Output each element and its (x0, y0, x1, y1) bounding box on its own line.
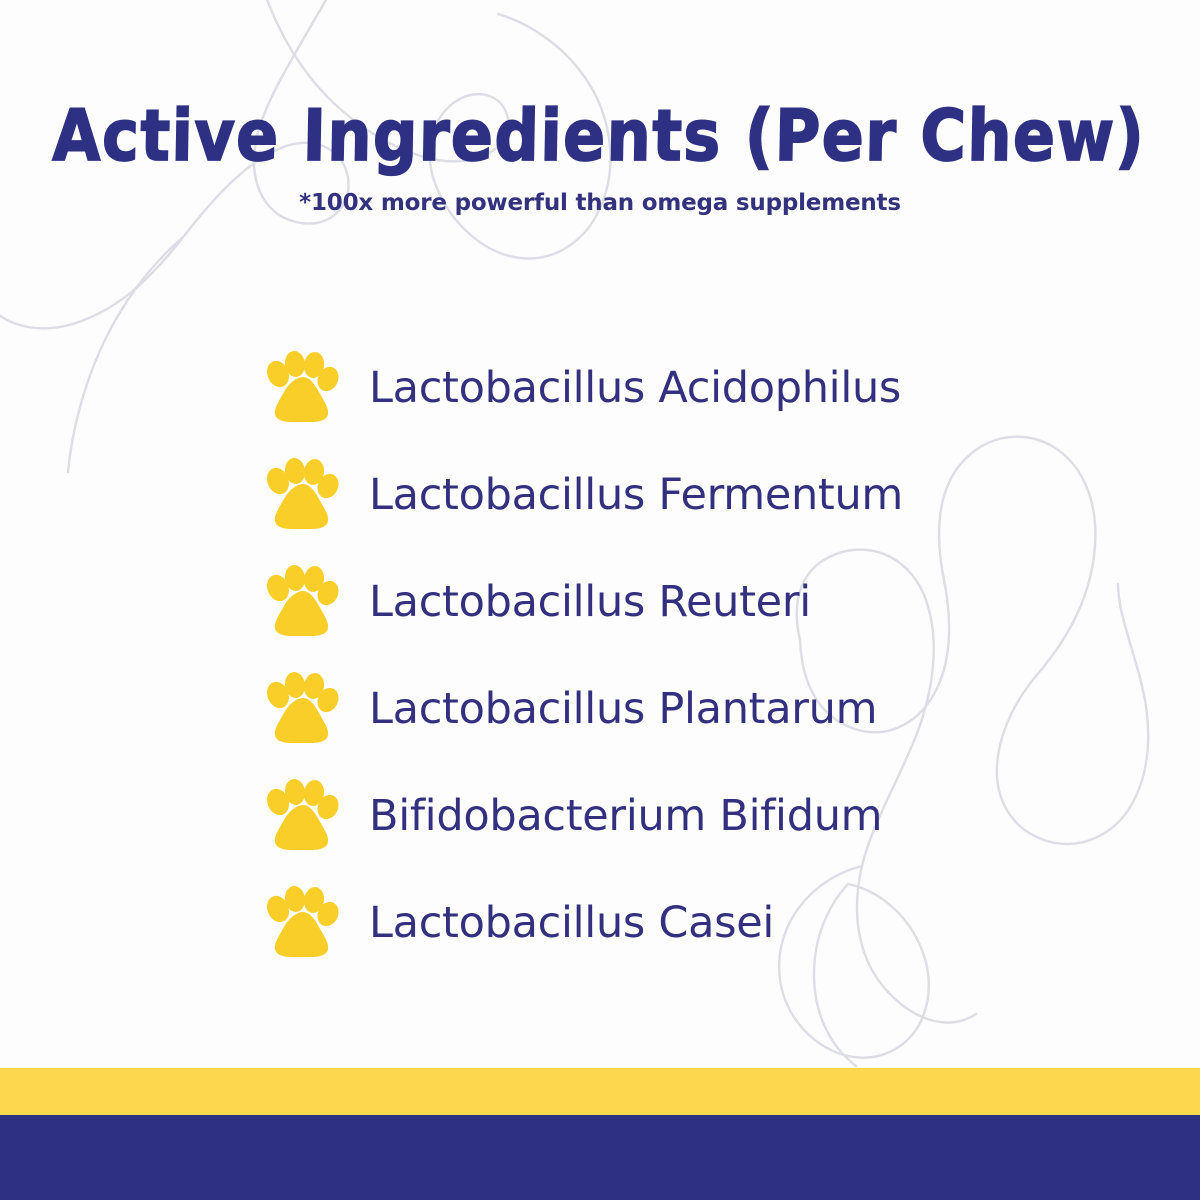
paw-icon (262, 565, 340, 639)
paw-icon (262, 779, 340, 853)
ingredient-label: Lactobacillus Fermentum (369, 470, 903, 520)
ingredient-list: Lactobacillus Acidophilus Lactobacillus … (262, 334, 1142, 976)
footer-bar-navy (0, 1115, 1200, 1200)
page-title: Active Ingredients (Per Chew) (0, 0, 1200, 171)
list-item: Bifidobacterium Bifidum (262, 762, 1142, 869)
list-item: Lactobacillus Reuteri (262, 548, 1142, 655)
poster-canvas: Active Ingredients (Per Chew) *100x more… (0, 0, 1200, 1200)
ingredient-label: Lactobacillus Acidophilus (369, 363, 901, 413)
squiggle-top-tail (68, 236, 184, 472)
list-item: Lactobacillus Casei (262, 869, 1142, 976)
ingredient-label: Lactobacillus Plantarum (369, 684, 877, 734)
paw-icon (262, 672, 340, 746)
paw-icon (262, 458, 340, 532)
ingredient-label: Lactobacillus Casei (369, 898, 774, 948)
ingredient-label: Bifidobacterium Bifidum (369, 791, 882, 841)
list-item: Lactobacillus Fermentum (262, 441, 1142, 548)
list-item: Lactobacillus Acidophilus (262, 334, 1142, 441)
list-item: Lactobacillus Plantarum (262, 655, 1142, 762)
paw-icon (262, 886, 340, 960)
footer-bar-yellow (0, 1068, 1200, 1115)
paw-icon (262, 351, 340, 425)
header-block: Active Ingredients (Per Chew) *100x more… (0, 0, 1200, 216)
ingredient-label: Lactobacillus Reuteri (369, 577, 811, 627)
